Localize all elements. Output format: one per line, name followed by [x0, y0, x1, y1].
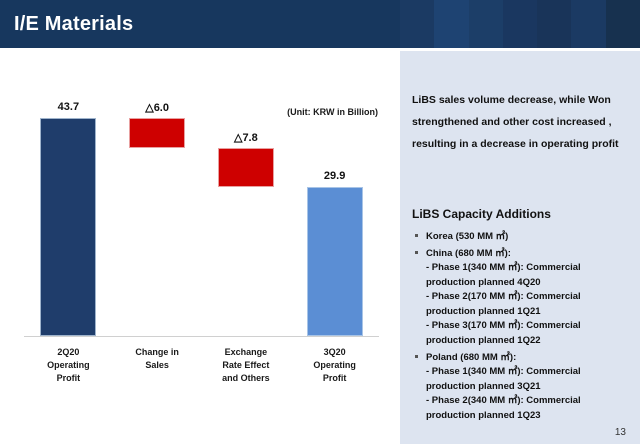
header-stripe-decoration: [400, 0, 640, 48]
header-stripe-2: [434, 0, 468, 48]
bullet-icon: [415, 234, 418, 237]
chart-bar: [129, 118, 185, 148]
header-stripe-6: [571, 0, 605, 48]
chart-bar: [307, 187, 363, 337]
slide-header: I/E Materials: [0, 0, 640, 48]
waterfall-chart: 43.72Q20 Operating Profit△6.0Change in S…: [0, 51, 400, 444]
capacity-item-heading-text: Poland (680 MM ㎡):: [426, 352, 516, 363]
bar-value-label: 29.9: [295, 170, 375, 182]
right-info-pane: LiBS sales volume decrease, while Won st…: [400, 51, 640, 444]
header-stripe-4: [503, 0, 537, 48]
capacity-additions-list: Korea (530 MM ㎡)China (680 MM ㎡):- Phase…: [412, 229, 632, 425]
page-title: I/E Materials: [14, 13, 133, 36]
capacity-phase-line: - Phase 2(170 MM ㎡): Commercial producti…: [412, 290, 632, 319]
chart-baseline: [24, 336, 379, 337]
bar-value-label: △7.8: [206, 131, 286, 144]
summary-text: LiBS sales volume decrease, while Won st…: [412, 89, 626, 155]
capacity-item-heading-text: Korea (530 MM ㎡): [426, 231, 508, 242]
chart-bar: [218, 148, 274, 187]
chart-bar: [40, 118, 96, 337]
capacity-item-heading: Korea (530 MM ㎡): [412, 229, 632, 244]
x-axis-category-label: 2Q20 Operating Profit: [23, 346, 113, 385]
capacity-additions-heading: LiBS Capacity Additions: [412, 207, 551, 221]
capacity-item-heading: China (680 MM ㎡):: [412, 246, 632, 261]
header-stripe-1: [400, 0, 434, 48]
capacity-phase-line: - Phase 3(170 MM ㎡): Commercial producti…: [412, 319, 632, 348]
x-axis-category-label: Exchange Rate Effect and Others: [201, 346, 291, 385]
header-stripe-3: [469, 0, 503, 48]
page-number: 13: [615, 427, 626, 438]
x-axis-category-label: Change in Sales: [112, 346, 202, 372]
capacity-phase-line: - Phase 1(340 MM ㎡): Commercial producti…: [412, 365, 632, 394]
bullet-icon: [415, 355, 418, 358]
capacity-item: Poland (680 MM ㎡):- Phase 1(340 MM ㎡): C…: [412, 350, 632, 423]
chart-pane: (Unit: KRW in Billion) 43.72Q20 Operatin…: [0, 51, 400, 444]
capacity-item: China (680 MM ㎡):- Phase 1(340 MM ㎡): Co…: [412, 246, 632, 348]
capacity-item-heading-text: China (680 MM ㎡):: [426, 248, 511, 259]
bullet-icon: [415, 251, 418, 254]
bar-value-label: △6.0: [117, 101, 197, 114]
capacity-phase-line: - Phase 2(340 MM ㎡): Commercial producti…: [412, 394, 632, 423]
capacity-item-heading: Poland (680 MM ㎡):: [412, 350, 632, 365]
bar-value-label: 43.7: [28, 101, 108, 113]
header-stripe-7: [606, 0, 640, 48]
header-stripe-5: [537, 0, 571, 48]
capacity-item: Korea (530 MM ㎡): [412, 229, 632, 244]
x-axis-category-label: 3Q20 Operating Profit: [290, 346, 380, 385]
capacity-phase-line: - Phase 1(340 MM ㎡): Commercial producti…: [412, 261, 632, 290]
